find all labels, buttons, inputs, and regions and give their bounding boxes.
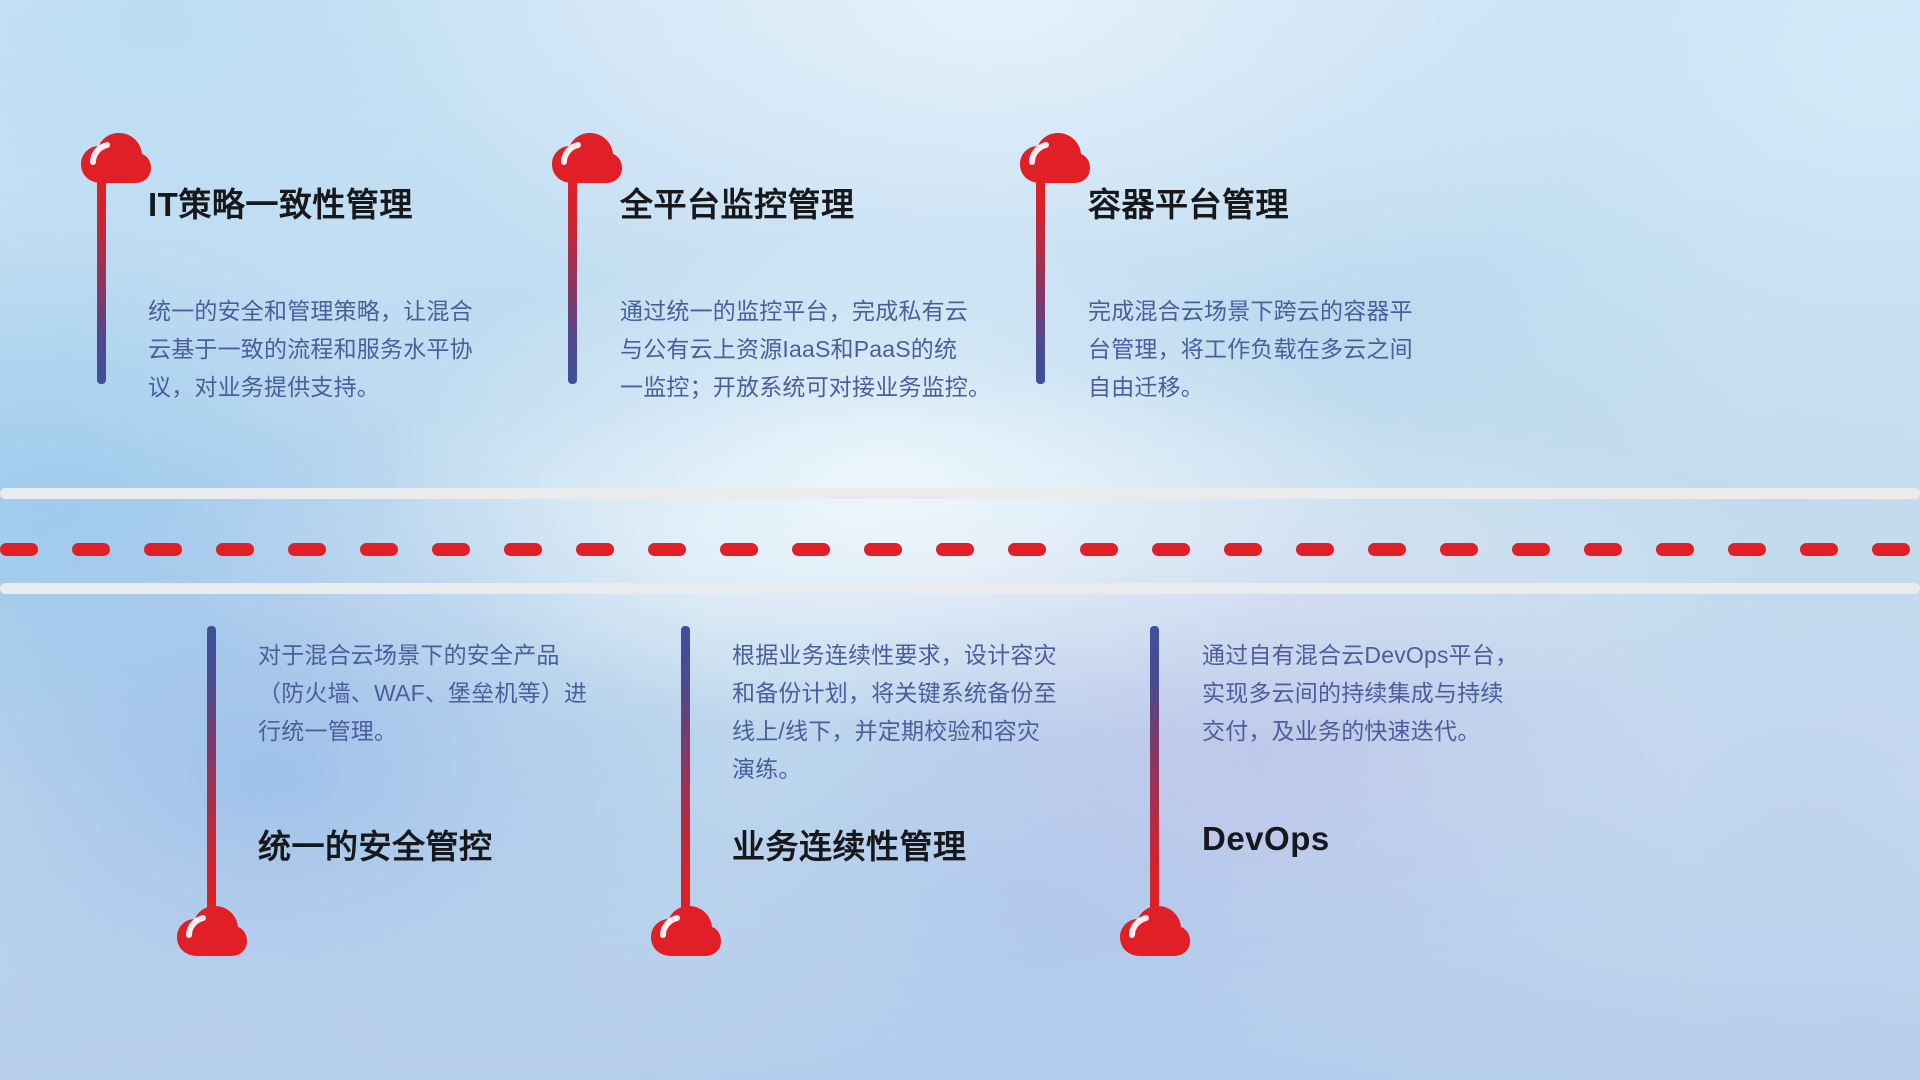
divider-dash	[1008, 543, 1046, 556]
divider-dash	[1224, 543, 1262, 556]
card-title: IT策略一致性管理	[148, 178, 413, 226]
connector-stem	[681, 626, 690, 916]
divider-dash	[504, 543, 542, 556]
card-body: 根据业务连续性要求，设计容灾 和备份计划，将关键系统备份至 线上/线下，并定期校…	[732, 636, 1132, 788]
divider-dash	[432, 543, 470, 556]
divider-dash	[1080, 543, 1118, 556]
cloud-icon	[650, 905, 722, 957]
divider-dash	[720, 543, 758, 556]
divider-dash	[936, 543, 974, 556]
divider-dash	[1656, 543, 1694, 556]
card-body: 通过统一的监控平台，完成私有云 与公有云上资源IaaS和PaaS的统 一监控；开…	[620, 292, 1020, 406]
connector-stem	[568, 178, 577, 384]
connector-stem	[1150, 626, 1159, 916]
card-title: 全平台监控管理	[620, 178, 855, 226]
connector-stem	[97, 178, 106, 384]
card-title: 容器平台管理	[1088, 178, 1289, 226]
card-body: 统一的安全和管理策略，让混合 云基于一致的流程和服务水平协 议，对业务提供支持。	[148, 292, 528, 406]
divider-dash	[0, 543, 38, 556]
connector-stem	[207, 626, 216, 916]
divider-dash	[144, 543, 182, 556]
divider-dash	[792, 543, 830, 556]
cloud-icon	[1119, 905, 1191, 957]
divider-dash	[288, 543, 326, 556]
cloud-icon	[176, 905, 248, 957]
divider-dash	[72, 543, 110, 556]
card-title: DevOps	[1202, 820, 1330, 858]
divider-dash	[1872, 543, 1910, 556]
cloud-icon	[1019, 132, 1091, 184]
divider-dash	[216, 543, 254, 556]
divider-dash	[360, 543, 398, 556]
divider-dashed-red	[0, 542, 1920, 556]
divider-dash	[1800, 543, 1838, 556]
card-body: 对于混合云场景下的安全产品 （防火墙、WAF、堡垒机等）进 行统一管理。	[258, 636, 648, 750]
card-title: 统一的安全管控	[258, 820, 493, 868]
background-center-sheen	[0, 0, 1920, 1080]
divider-dash	[1512, 543, 1550, 556]
divider-dash	[648, 543, 686, 556]
divider-dash	[1368, 543, 1406, 556]
cloud-icon	[551, 132, 623, 184]
divider-dash	[1296, 543, 1334, 556]
divider-dash	[1152, 543, 1190, 556]
divider-dash	[576, 543, 614, 556]
infographic-canvas: IT策略一致性管理 统一的安全和管理策略，让混合 云基于一致的流程和服务水平协 …	[0, 0, 1920, 1080]
divider-dash	[1584, 543, 1622, 556]
divider-rail-bottom	[0, 583, 1920, 594]
divider-dash	[1440, 543, 1478, 556]
divider-dash	[1728, 543, 1766, 556]
divider-dash	[864, 543, 902, 556]
card-body: 通过自有混合云DevOps平台， 实现多云间的持续集成与持续 交付，及业务的快速…	[1202, 636, 1592, 750]
card-body: 完成混合云场景下跨云的容器平 台管理，将工作负载在多云之间 自由迁移。	[1088, 292, 1478, 406]
card-title: 业务连续性管理	[732, 820, 967, 868]
cloud-icon	[80, 132, 152, 184]
connector-stem	[1036, 178, 1045, 384]
divider-rail-top	[0, 488, 1920, 499]
